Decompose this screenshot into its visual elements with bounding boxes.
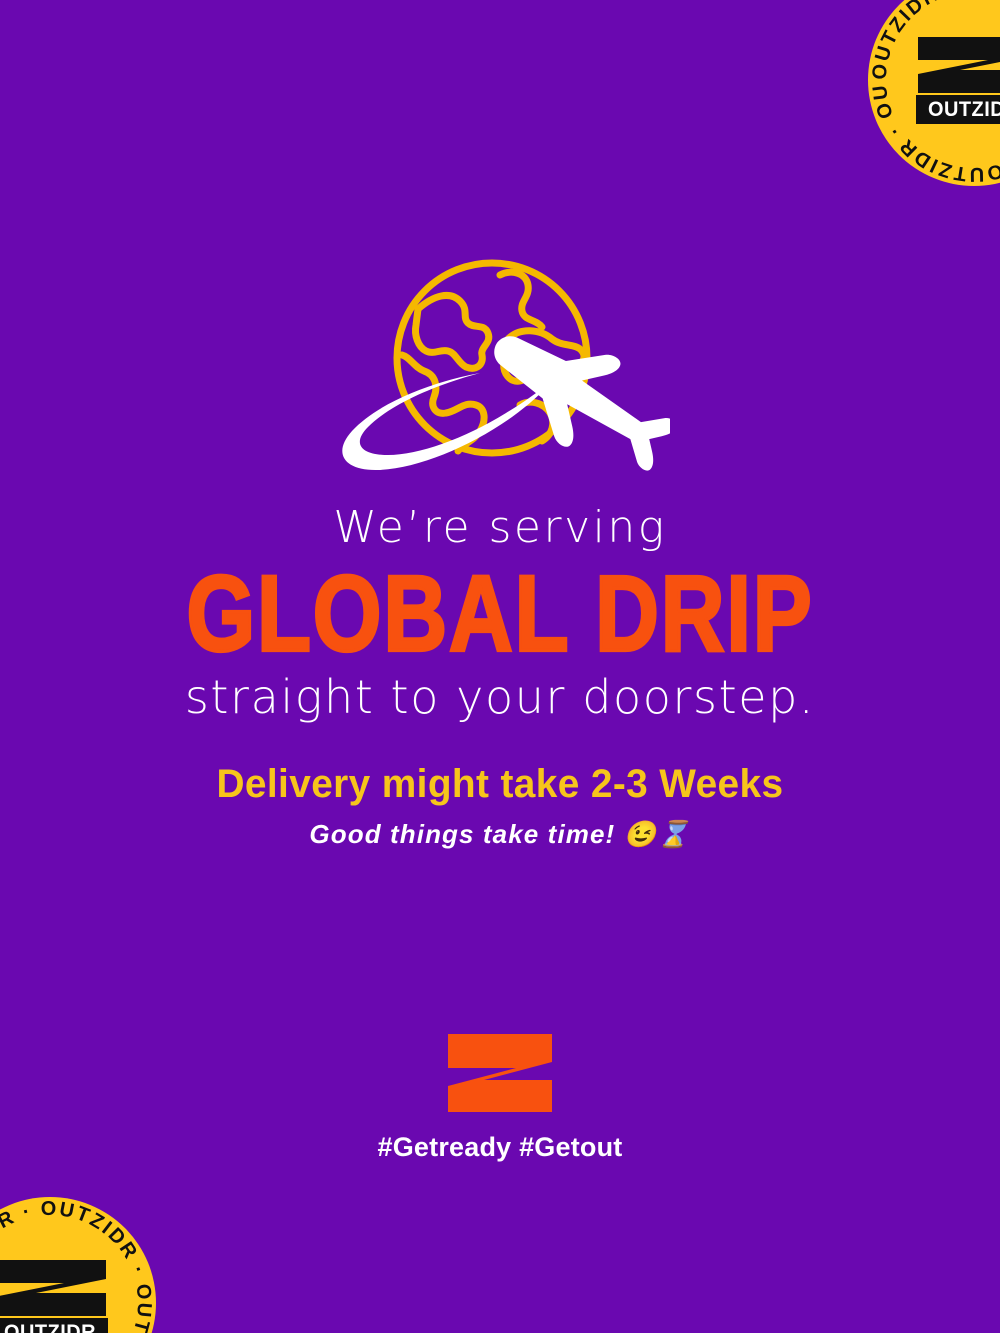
badge-bottom-left: OUTZIDR · OUTZIDR · OUTZIDR · OUTZIDR · … (0, 1197, 156, 1333)
headline-subtext: straight to your doorstep. (0, 673, 1000, 721)
headline-main: GLOBAL DRIP (40, 561, 960, 669)
delivery-notice-block: Delivery might take 2-3 Weeks Good thing… (0, 762, 1000, 850)
footer-logo-block: #Getready #Getout (0, 1032, 1000, 1163)
badge-top-right: OUTZIDR · OUTZIDR · OUTZIDR · OUTZIDR · … (868, 0, 1000, 186)
footer-tagline: #Getready #Getout (0, 1133, 1000, 1163)
headline-eyebrow: We’re serving (0, 505, 1000, 551)
headline-block: We’re serving GLOBAL DRIP straight to yo… (0, 505, 1000, 721)
badge-z-icon (916, 36, 1000, 94)
badge-wordmark: OUTZIDR (0, 1318, 108, 1333)
badge-wordmark-text: OUTZIDR (0, 1322, 101, 1333)
delivery-note: Good things take time! 😉⌛ (0, 819, 1000, 850)
badge-wordmark: OUTZIDR (916, 95, 1000, 124)
outzidr-z-logo-icon (444, 1032, 556, 1114)
poster-canvas: We’re serving GLOBAL DRIP straight to yo… (0, 0, 1000, 1333)
badge-wordmark-text: OUTZIDR (923, 99, 1000, 120)
badge-core: OUTZIDR (916, 36, 1000, 124)
globe-airplane-illustration (330, 255, 670, 480)
badge-core: OUTZIDR (0, 1259, 108, 1333)
badge-z-icon (0, 1259, 108, 1317)
delivery-headline: Delivery might take 2-3 Weeks (15, 762, 985, 806)
